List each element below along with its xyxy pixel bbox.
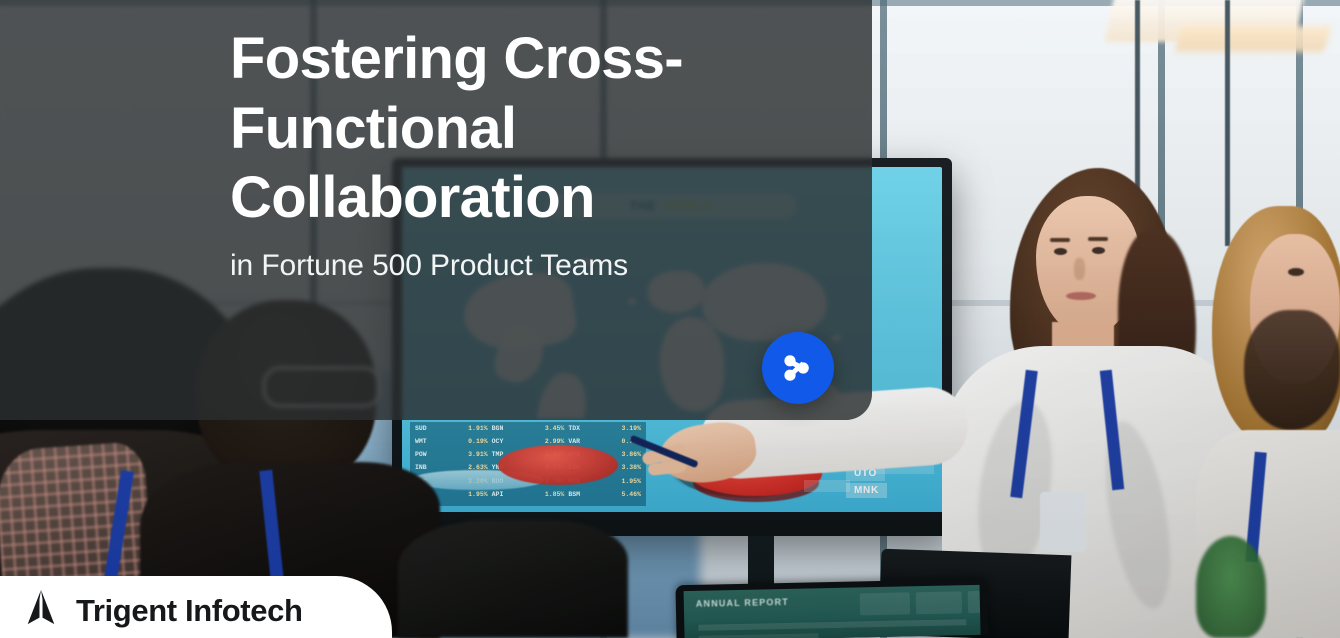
- node-chevron-icon: [781, 351, 815, 385]
- brand-card[interactable]: Trigent Infotech: [0, 576, 392, 638]
- laptop-kpi-card: [860, 592, 910, 615]
- ticker-value: 1.95%: [607, 478, 641, 490]
- presenter-eye: [1054, 248, 1067, 255]
- presenter-mouth: [1066, 292, 1096, 300]
- laptop-kpi-card: [968, 590, 981, 613]
- laptop-report-title: ANNUAL REPORT: [696, 597, 789, 609]
- ticker-value: 3.91%: [453, 451, 487, 463]
- ticker-symbol: TDX: [568, 425, 602, 437]
- office-plant: [1196, 536, 1266, 638]
- ticker-symbol: BSM: [568, 491, 602, 503]
- ticker-value: 3.19%: [607, 425, 641, 437]
- brand-name: Trigent Infotech: [76, 593, 303, 629]
- chart-label-mnk: MNK: [846, 483, 887, 498]
- ticker-symbol: BGN: [492, 425, 526, 437]
- chart-bar: [804, 480, 850, 492]
- slide-canvas: THE WORLD Select region to view data Eur…: [0, 0, 1340, 638]
- page-subtitle: in Fortune 500 Product Teams: [230, 249, 872, 283]
- presenter-eyebrow: [1050, 238, 1070, 242]
- node-chevron-button[interactable]: [762, 332, 834, 404]
- presenter-badge: [1040, 492, 1086, 552]
- presenter-nose: [1074, 258, 1085, 280]
- ticker-symbol: API: [492, 491, 526, 503]
- lamp-stem: [1225, 0, 1230, 246]
- ticker-value: 3.45%: [530, 425, 564, 437]
- ticker-symbol: WMT: [415, 438, 449, 450]
- ticker-symbol: SUD: [415, 425, 449, 437]
- attendee-right-eye: [1288, 268, 1304, 276]
- ticker-value: 0.19%: [453, 438, 487, 450]
- trigent-peak-logo-icon: [22, 588, 60, 626]
- laptop-center: ANNUAL REPORT: [675, 579, 988, 638]
- laptop-content-row: [699, 633, 819, 638]
- ticker-value: 1.91%: [453, 425, 487, 437]
- page-title: Fostering Cross- Functional Collaboratio…: [230, 24, 770, 233]
- presenter-eyebrow: [1088, 237, 1108, 241]
- attendee-right-beard: [1244, 310, 1340, 430]
- chart-disc: [498, 445, 618, 485]
- title-overlay-panel: Fostering Cross- Functional Collaboratio…: [0, 0, 872, 420]
- ticker-symbol: POW: [415, 451, 449, 463]
- ticker-value: 1.85%: [530, 491, 564, 503]
- laptop-content-row: [698, 619, 966, 631]
- attendee-third-shoulder: [398, 520, 628, 638]
- laptop-screen: ANNUAL REPORT: [684, 585, 981, 638]
- ceiling-light: [1174, 26, 1331, 52]
- ticker-value: 1.95%: [453, 491, 487, 503]
- ticker-value: 5.46%: [607, 491, 641, 503]
- laptop-kpi-card: [916, 591, 962, 614]
- presenter-eye: [1092, 247, 1105, 254]
